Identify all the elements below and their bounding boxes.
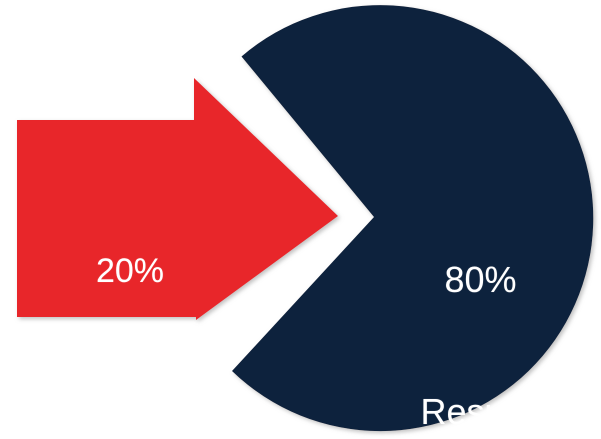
pareto-diagram-canvas: 20% Effort 80% Results (0, 0, 601, 439)
pareto-figure (0, 0, 601, 439)
